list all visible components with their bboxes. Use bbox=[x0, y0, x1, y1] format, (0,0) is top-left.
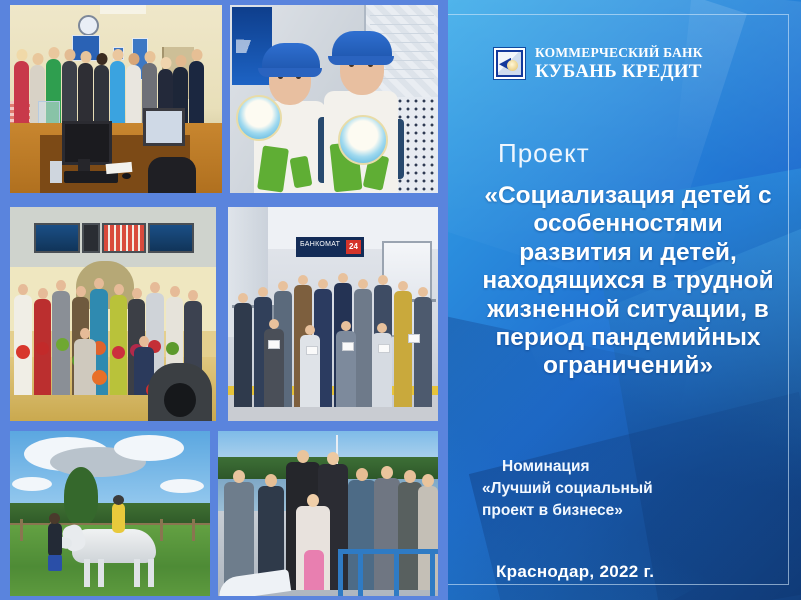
nomination-block: Номинация «Лучший социальный проект в би… bbox=[482, 456, 782, 522]
bowling-screen-icon bbox=[34, 223, 80, 253]
bank-logo-icon bbox=[493, 47, 526, 80]
photo-bowling bbox=[10, 207, 216, 421]
project-label: Проект bbox=[498, 138, 590, 169]
title-panel: КОММЕРЧЕСКИЙ БАНК КУБАНЬ КРЕДИТ Проект «… bbox=[448, 0, 801, 600]
photo-boys-blue-caps bbox=[230, 5, 438, 193]
nomination-line-1: «Лучший социальный bbox=[482, 478, 782, 500]
bank-name-line1: КОММЕРЧЕСКИЙ БАНК bbox=[535, 46, 703, 60]
bank-logo: КОММЕРЧЕСКИЙ БАНК КУБАНЬ КРЕДИТ bbox=[493, 46, 703, 81]
city-year: Краснодар, 2022 г. bbox=[496, 562, 654, 582]
nomination-label: Номинация bbox=[502, 456, 782, 478]
nomination-line-2: проект в бизнесе» bbox=[482, 500, 782, 522]
photo-atm-group: БАНКОМАТ24 bbox=[228, 207, 438, 421]
scoreboard-icon bbox=[102, 223, 146, 253]
presentation-slide: БАНКОМАТ24 bbox=[0, 0, 801, 600]
bank-name-line2: КУБАНЬ КРЕДИТ bbox=[535, 62, 703, 81]
page-title: «Социализация детей с особенностями разв… bbox=[478, 182, 778, 381]
photo-horse-riding bbox=[10, 431, 210, 596]
photo-bank-office-tour bbox=[10, 5, 222, 193]
photo-collage: БАНКОМАТ24 bbox=[0, 0, 448, 600]
project-badge-icon bbox=[236, 95, 282, 141]
mouse-icon bbox=[122, 173, 131, 179]
atm-sign-icon: БАНКОМАТ24 bbox=[296, 237, 364, 257]
wall-clock-icon bbox=[78, 15, 99, 36]
project-badge-icon bbox=[338, 115, 388, 165]
photo-lakeside-group bbox=[218, 431, 438, 596]
